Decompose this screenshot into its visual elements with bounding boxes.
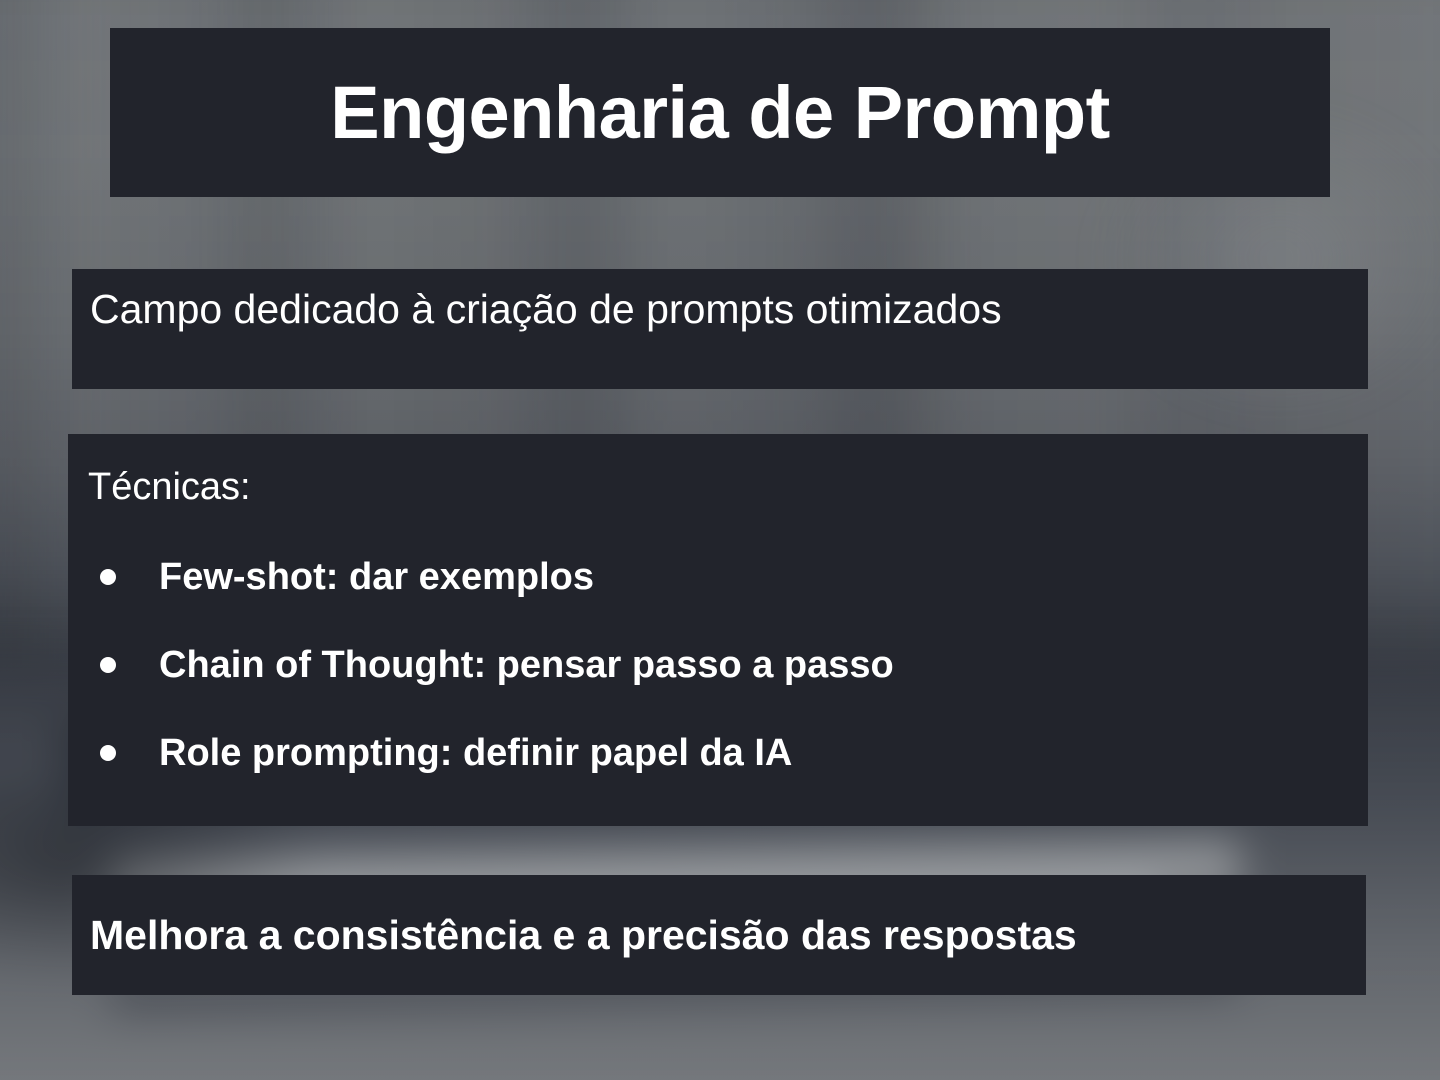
slide-title: Engenharia de Prompt bbox=[330, 76, 1109, 150]
bullet-dot-icon bbox=[100, 657, 116, 673]
list-item: Role prompting: definir papel da IA bbox=[88, 734, 1368, 772]
techniques-panel: Técnicas: Few-shot: dar exemplos Chain o… bbox=[68, 434, 1368, 826]
title-panel: Engenharia de Prompt bbox=[110, 28, 1330, 197]
technique-label: Role prompting: definir papel da IA bbox=[159, 734, 792, 772]
slide-subtitle: Campo dedicado à criação de prompts otim… bbox=[72, 269, 1002, 330]
bullet-dot-icon bbox=[100, 745, 116, 761]
techniques-heading: Técnicas: bbox=[88, 468, 1368, 506]
list-item: Chain of Thought: pensar passo a passo bbox=[88, 646, 1368, 684]
footer-panel: Melhora a consistência e a precisão das … bbox=[72, 875, 1366, 995]
technique-label: Chain of Thought: pensar passo a passo bbox=[159, 646, 894, 684]
subtitle-panel: Campo dedicado à criação de prompts otim… bbox=[72, 269, 1368, 389]
slide-content: Engenharia de Prompt Campo dedicado à cr… bbox=[0, 0, 1440, 1080]
slide-footer-text: Melhora a consistência e a precisão das … bbox=[72, 915, 1077, 956]
technique-label: Few-shot: dar exemplos bbox=[159, 558, 594, 596]
bullet-dot-icon bbox=[100, 569, 116, 585]
list-item: Few-shot: dar exemplos bbox=[88, 558, 1368, 596]
